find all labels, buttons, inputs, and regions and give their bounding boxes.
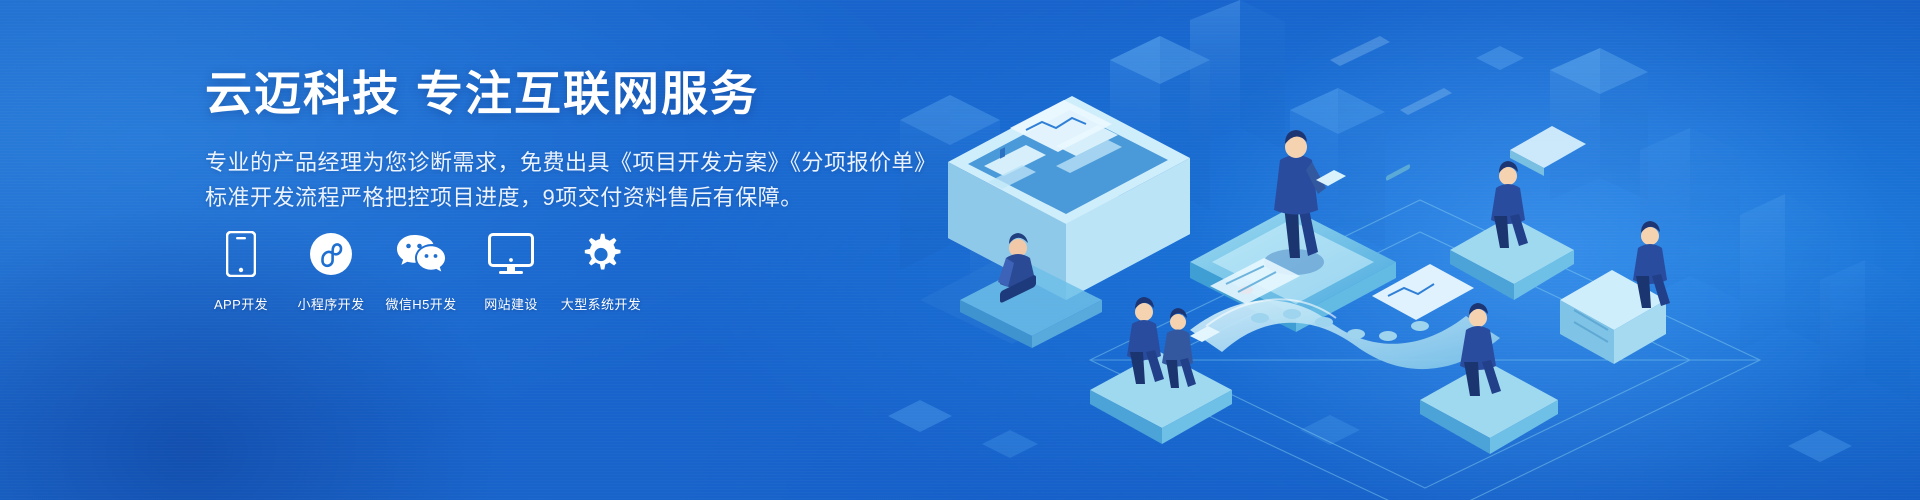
hero-banner: 云迈科技 专注互联网服务 专业的产品经理为您诊断需求，免费出具《项目开发方案》《… <box>0 0 1920 500</box>
monitor-icon <box>488 230 534 278</box>
service-label-miniprogram: 小程序开发 <box>297 294 364 313</box>
figures-lower-left <box>1127 297 1220 388</box>
gear-icon <box>579 230 623 278</box>
isometric-illustration <box>860 0 1920 500</box>
hero-copy: 云迈科技 专注互联网服务 专业的产品经理为您诊断需求，免费出具《项目开发方案》《… <box>205 68 965 216</box>
service-item-miniprogram[interactable]: 小程序开发 <box>295 230 367 313</box>
service-item-wechat-h5[interactable]: 微信H5开发 <box>385 230 457 313</box>
service-label-wechat-h5: 微信H5开发 <box>385 294 456 313</box>
mini-program-icon <box>309 230 353 278</box>
mobile-phone-icon <box>226 230 256 278</box>
floating-ui-card <box>1372 164 1474 320</box>
service-label-app: APP开发 <box>214 294 268 313</box>
service-item-website[interactable]: 网站建设 <box>475 230 547 313</box>
service-label-website: 网站建设 <box>484 294 538 313</box>
service-label-large-system: 大型系统开发 <box>561 294 641 313</box>
wechat-icon <box>396 230 446 278</box>
page-title: 云迈科技 专注互联网服务 <box>205 68 965 121</box>
hero-subtitle: 专业的产品经理为您诊断需求，免费出具《项目开发方案》《分项报价单》 标准开发流程… <box>205 145 965 216</box>
service-item-large-system[interactable]: 大型系统开发 <box>565 230 637 313</box>
lower-left-platform <box>1090 352 1232 444</box>
service-list: APP开发 小程序开发 微信 <box>205 230 637 313</box>
subtitle-line-2: 标准开发流程严格把控项目进度，9项交付资料售后有保障。 <box>205 180 965 216</box>
service-item-app[interactable]: APP开发 <box>205 230 277 313</box>
subtitle-line-1: 专业的产品经理为您诊断需求，免费出具《项目开发方案》《分项报价单》 <box>205 145 965 181</box>
